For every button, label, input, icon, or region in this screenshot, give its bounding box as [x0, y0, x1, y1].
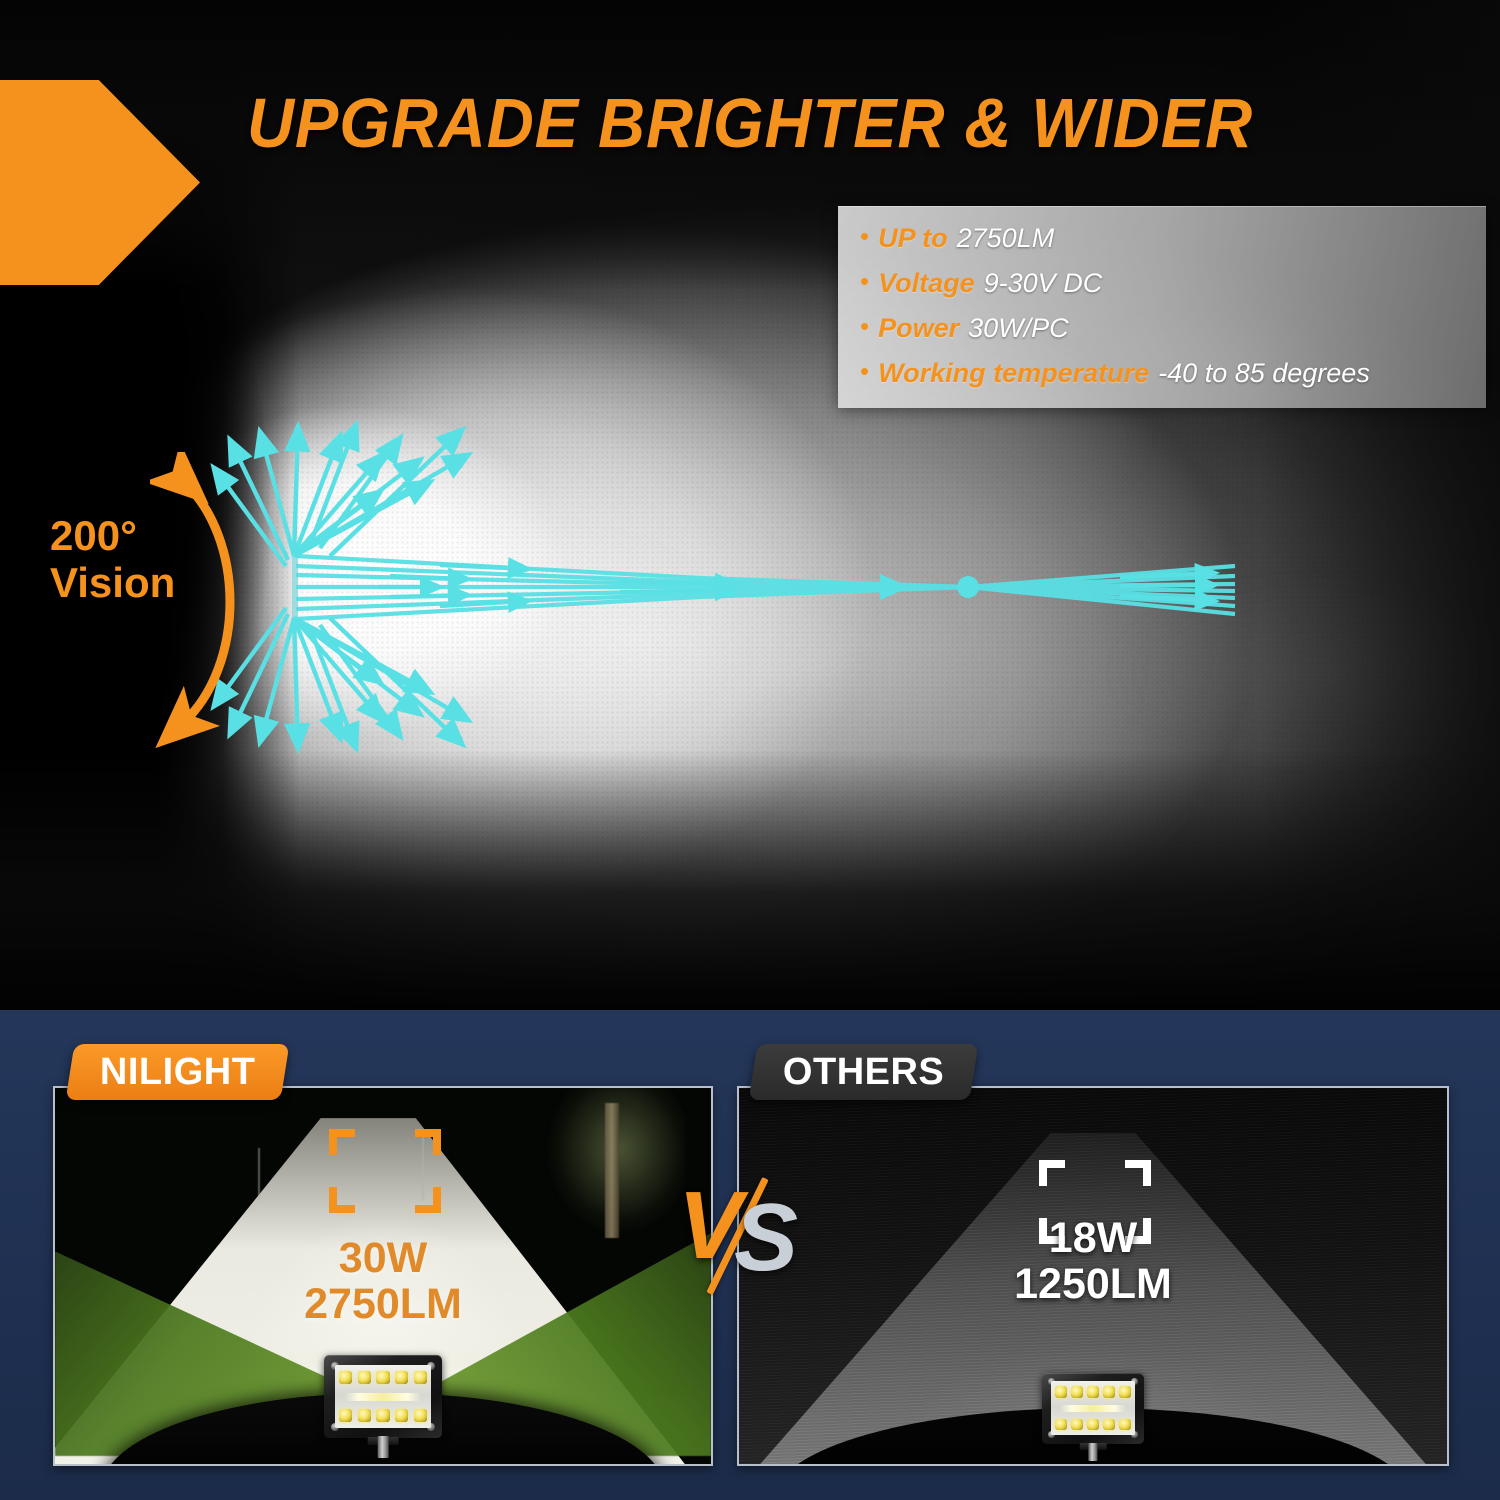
led-chip	[376, 1371, 389, 1384]
others-photo-panel: 18W 1250LM	[737, 1086, 1449, 1466]
product-feature-image: 200° Vision UPGRADE BRIGHTER & WIDER • U…	[0, 0, 1500, 1500]
others-output-label: 18W 1250LM	[739, 1216, 1447, 1307]
upper-fan-arrows	[260, 427, 468, 556]
led-row-top	[339, 1371, 426, 1384]
spec-key: Voltage	[878, 270, 975, 297]
led-chip	[1071, 1419, 1082, 1430]
pod-mount-bolt	[1088, 1443, 1097, 1462]
led-chip	[339, 1409, 352, 1422]
pod-lens-face	[1051, 1381, 1135, 1435]
led-row-top	[1055, 1386, 1130, 1397]
spec-row-temperature: • Working temperature -40 to 85 degrees	[860, 360, 1486, 387]
led-flood-strip	[345, 1393, 422, 1401]
spec-row-lumens: • UP to 2750LM	[860, 225, 1486, 252]
led-chip	[1087, 1419, 1098, 1430]
led-chip	[358, 1371, 371, 1384]
led-chip	[1103, 1419, 1114, 1430]
bullet-icon: •	[860, 358, 869, 384]
led-chip	[414, 1409, 427, 1422]
badge-others: OTHERS	[749, 1044, 979, 1100]
tree-trunk	[605, 1103, 619, 1238]
led-chip	[1055, 1386, 1066, 1397]
bullet-icon: •	[860, 268, 869, 294]
page-title: UPGRADE BRIGHTER & WIDER	[53, 88, 1448, 158]
led-chip	[1119, 1386, 1130, 1397]
badge-nilight: NILIGHT	[66, 1044, 290, 1100]
pod-housing	[324, 1355, 442, 1438]
pod-housing	[1042, 1373, 1144, 1444]
vs-emblem: V S	[676, 1178, 816, 1288]
vision-angle-value: 200°	[50, 512, 175, 559]
led-pod-light-others	[1042, 1373, 1144, 1444]
pod-lens-face	[335, 1365, 432, 1428]
vs-letter-s: S	[734, 1190, 798, 1286]
led-chip	[1119, 1419, 1130, 1430]
led-chip	[395, 1371, 408, 1384]
others-lumens: 1250LM	[739, 1262, 1447, 1308]
spec-value: -40 to 85 degrees	[1158, 360, 1370, 387]
nilight-watt: 30W	[339, 1234, 427, 1282]
vision-angle-label: 200° Vision	[50, 512, 175, 606]
vision-angle-text: Vision	[50, 559, 175, 606]
led-chip	[1055, 1419, 1066, 1430]
spec-value: 2750LM	[957, 225, 1055, 252]
spec-row-power: • Power 30W/PC	[860, 315, 1486, 342]
roadside-pole	[258, 1148, 260, 1201]
nilight-output-label: 30W 2750LM	[55, 1236, 711, 1327]
beam-focus-dot	[957, 576, 979, 598]
led-chip	[1103, 1386, 1114, 1397]
others-watt: 18W	[1049, 1214, 1137, 1262]
hero-beam-photo: 200° Vision UPGRADE BRIGHTER & WIDER • U…	[0, 0, 1500, 1010]
led-pod-light-nilight	[324, 1355, 442, 1438]
led-chip	[414, 1371, 427, 1384]
spec-row-voltage: • Voltage 9-30V DC	[860, 270, 1486, 297]
led-chip	[1071, 1386, 1082, 1397]
nilight-photo-panel: 30W 2750LM	[53, 1086, 713, 1466]
led-chip	[339, 1371, 352, 1384]
specifications-panel: • UP to 2750LM • Voltage 9-30V DC • Powe…	[838, 206, 1486, 408]
led-row-bottom	[1055, 1419, 1130, 1430]
led-chip	[1087, 1386, 1098, 1397]
nilight-lumens: 2750LM	[55, 1282, 711, 1328]
bullet-icon: •	[860, 223, 869, 249]
pod-mount-bolt	[378, 1436, 389, 1457]
focus-bracket-orange	[329, 1129, 441, 1213]
spec-key: UP to	[878, 225, 948, 252]
spec-value: 30W/PC	[968, 315, 1069, 342]
led-chip	[395, 1409, 408, 1422]
led-row-bottom	[339, 1409, 426, 1422]
led-flood-strip	[1060, 1405, 1126, 1412]
badge-nilight-label: NILIGHT	[100, 1051, 255, 1094]
spec-key: Power	[878, 315, 959, 342]
spec-key: Working temperature	[878, 360, 1149, 387]
vs-letter-v: V	[678, 1178, 742, 1274]
spec-value: 9-30V DC	[984, 270, 1103, 297]
led-chip	[376, 1409, 389, 1422]
led-chip	[358, 1409, 371, 1422]
bullet-icon: •	[860, 313, 869, 339]
badge-others-label: OTHERS	[783, 1051, 944, 1094]
